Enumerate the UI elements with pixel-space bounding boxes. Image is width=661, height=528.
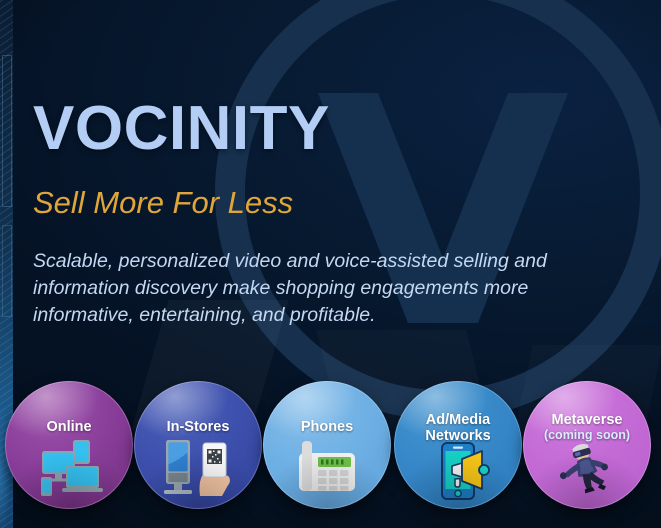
bubble-label-ad-media-networks: Ad/Media Networks [394, 412, 522, 444]
channel-bubble-online[interactable]: Online [5, 381, 133, 509]
tagline: Sell More For Less [33, 160, 643, 220]
bubble-sublabel-coming-soon: (coming soon) [523, 428, 651, 442]
kiosk-and-qr-phone-icon [162, 439, 234, 497]
channel-bubble-metaverse[interactable]: Metaverse (coming soon) [523, 381, 651, 509]
channel-bubble-phones[interactable]: Phones [263, 381, 391, 509]
channel-bubble-row: Online [0, 379, 661, 528]
vr-avatar-icon [551, 442, 623, 500]
edge-frame [2, 225, 12, 317]
bubble-label-phones: Phones [263, 419, 391, 435]
edge-frame [2, 55, 12, 207]
desk-phone-icon [291, 439, 363, 497]
bubble-label-in-stores: In-Stores [134, 419, 262, 435]
devices-icon [33, 439, 105, 497]
channel-bubble-ad-media-networks[interactable]: Ad/Media Networks [394, 381, 522, 509]
bubble-label-line1: Ad/Media [426, 412, 490, 428]
phone-megaphone-icon [422, 442, 494, 500]
brand-title: VOCINITY [33, 0, 643, 160]
bubble-label-online: Online [5, 419, 133, 435]
bubble-label-main: Metaverse [552, 412, 623, 428]
description-paragraph: Scalable, personalized video and voice-a… [33, 220, 633, 329]
text-block: VOCINITY Sell More For Less Scalable, pe… [33, 0, 643, 329]
bubble-label-metaverse: Metaverse (coming soon) [523, 412, 651, 442]
channel-bubble-in-stores[interactable]: In-Stores [134, 381, 262, 509]
presentation-slide: VOCINITY Sell More For Less Scalable, pe… [0, 0, 661, 528]
